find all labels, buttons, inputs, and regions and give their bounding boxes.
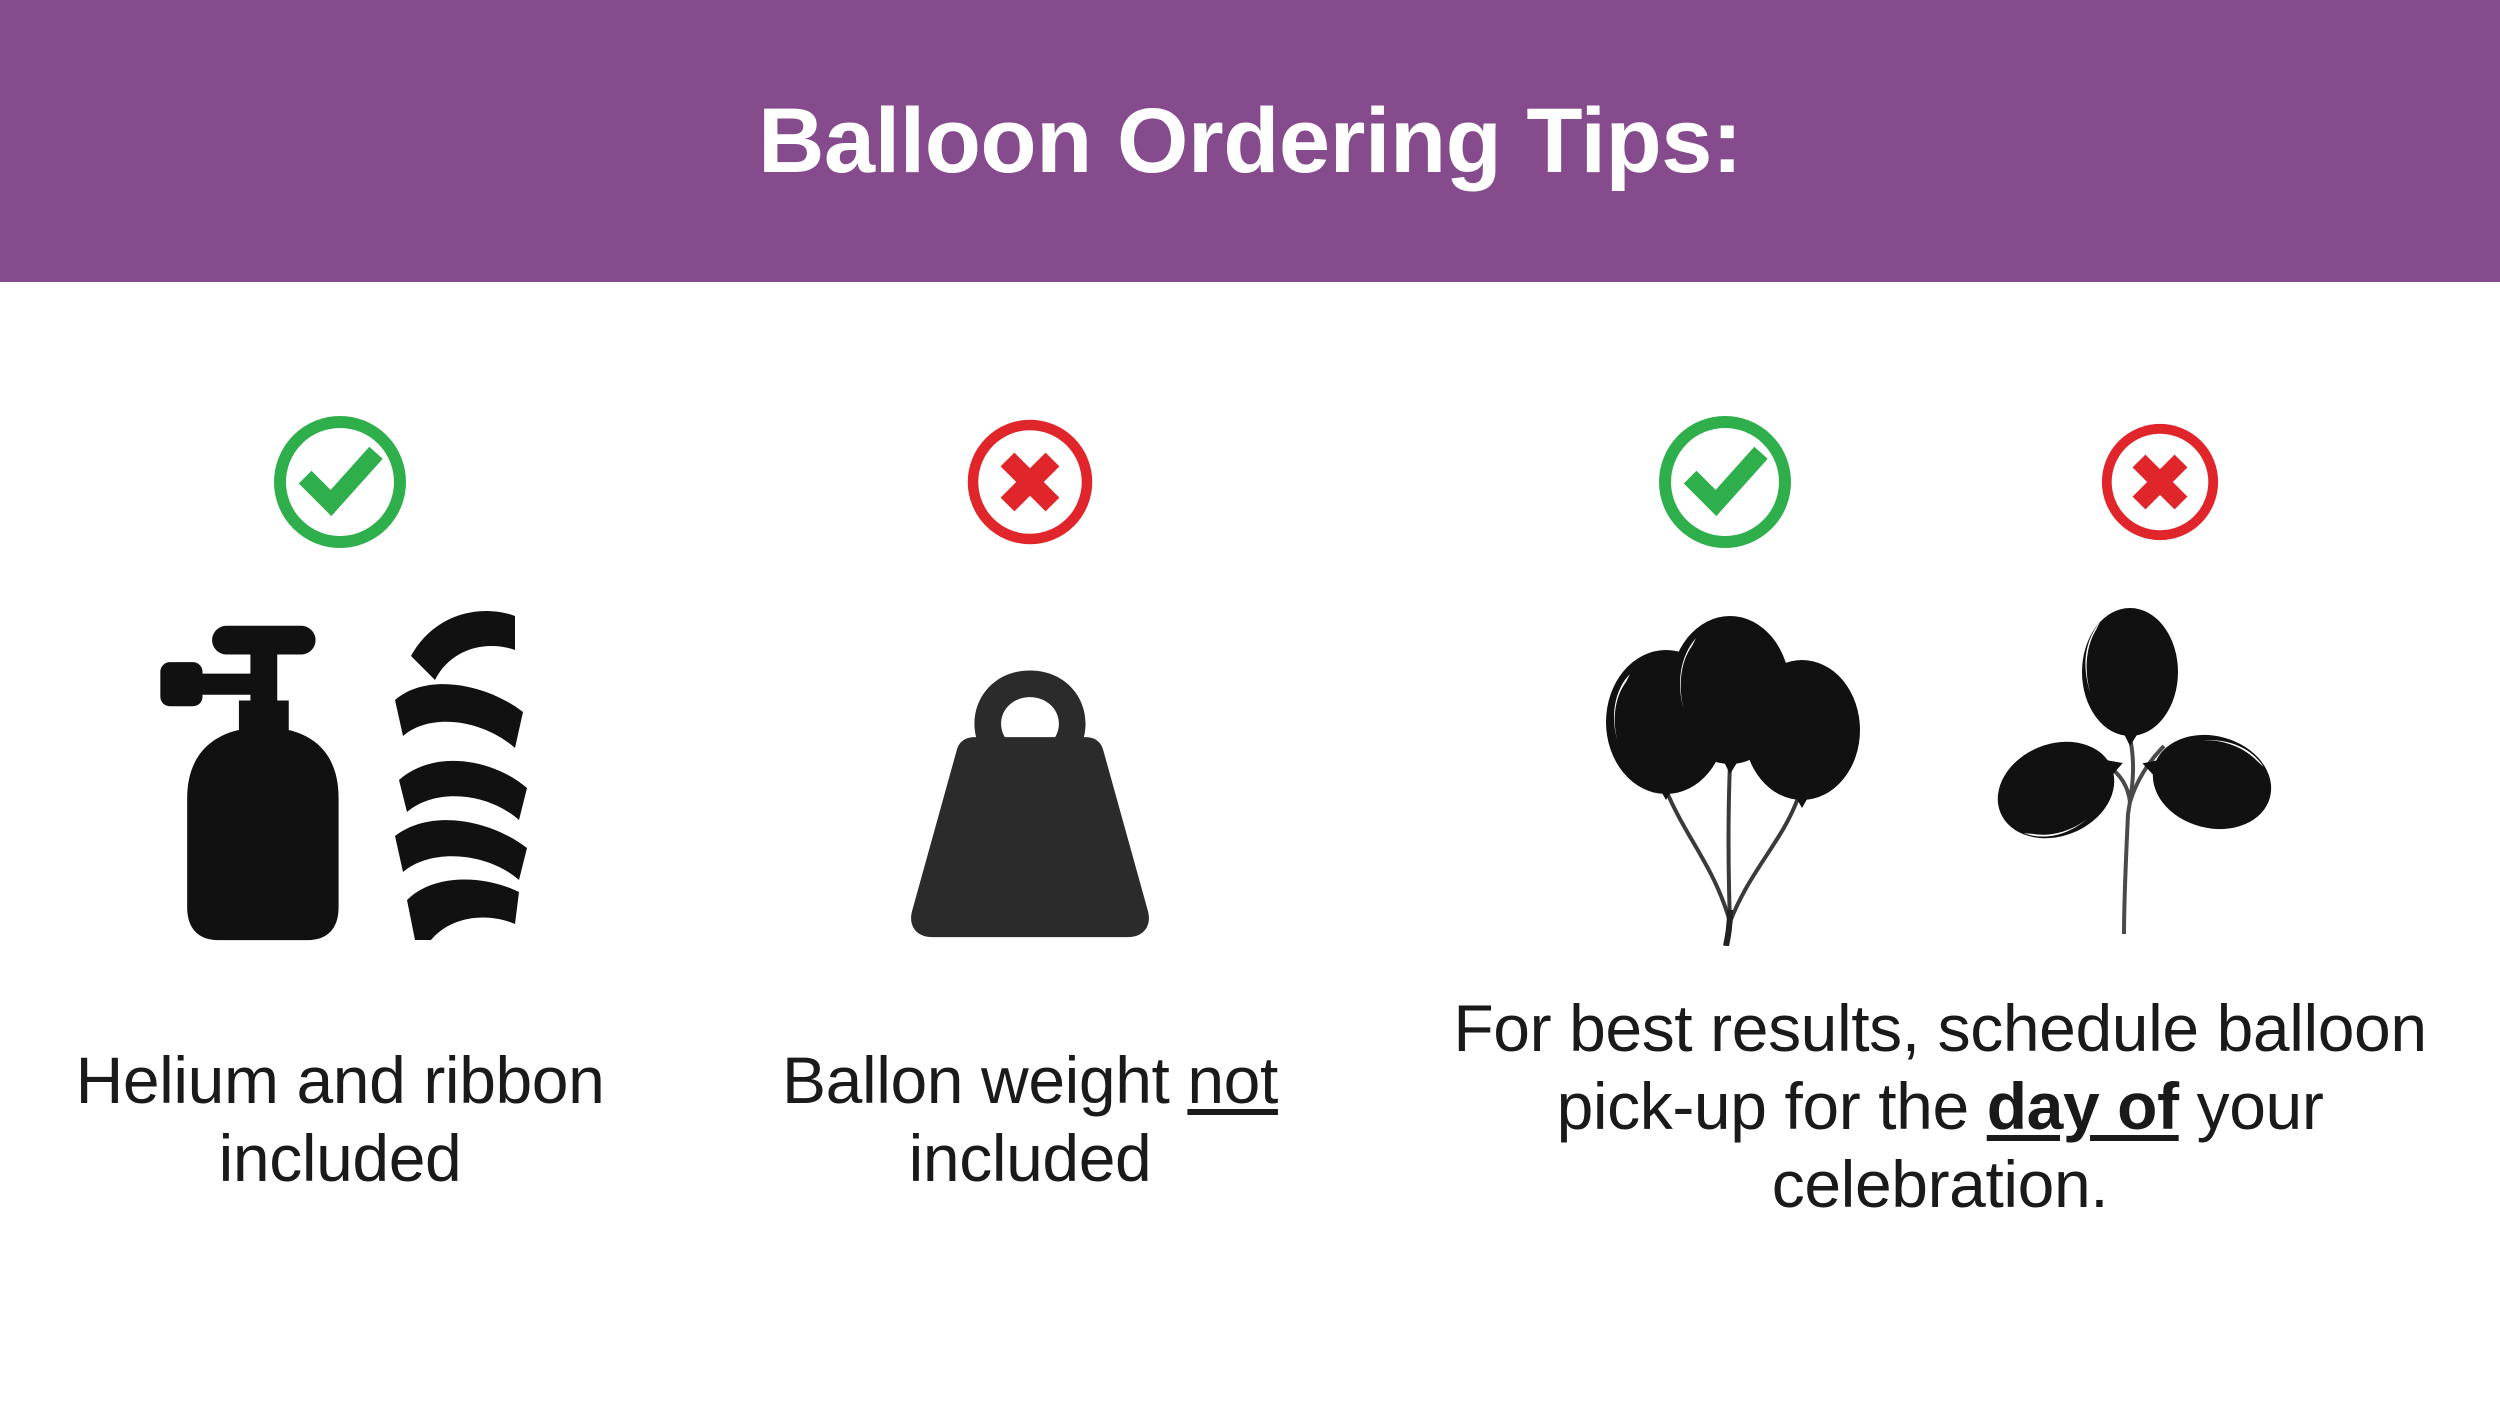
art-row-balloon-weight — [885, 586, 1175, 946]
header-band: Balloon Ordering Tips: — [0, 0, 2500, 282]
caption-emphasis-not: not — [1187, 1043, 1278, 1117]
badge-row-pickup-timing — [1650, 392, 2230, 572]
inflated-balloons-icon — [1590, 606, 1890, 946]
caption-text: Helium and ribbon included — [76, 1043, 605, 1195]
page-title: Balloon Ordering Tips: — [738, 95, 1762, 187]
caption-helium-ribbon: Helium and ribbon included — [20, 1042, 660, 1198]
caption-emphasis-day-of: day of — [1987, 1069, 2179, 1143]
caption-pickup-timing: For best results, schedule balloon pick-… — [1400, 990, 2480, 1224]
deflated-balloons-icon — [1980, 606, 2290, 946]
balloon-weight-icon — [885, 666, 1175, 946]
tip-column-pickup-timing: For best results, schedule balloon pick-… — [1380, 282, 2500, 1406]
check-circle-icon — [1650, 407, 1800, 557]
tip-column-balloon-weight: Ballon weight not included — [680, 282, 1380, 1406]
art-row-pickup-timing — [1590, 586, 2290, 946]
x-circle-icon — [2090, 412, 2230, 552]
caption-text-a: Ballon weight — [782, 1043, 1187, 1117]
curled-ribbon-icon — [375, 596, 535, 946]
badge-row-balloon-weight — [955, 392, 1105, 572]
tip-column-helium-ribbon: Helium and ribbon included — [0, 282, 680, 1406]
caption-balloon-weight: Ballon weight not included — [690, 1042, 1370, 1198]
check-circle-icon — [265, 407, 415, 557]
art-row-helium-ribbon — [145, 586, 535, 946]
balloon-ordering-tips-poster: Balloon Ordering Tips: — [0, 0, 2500, 1406]
caption-text-b: included — [909, 1121, 1152, 1195]
helium-tank-icon — [145, 616, 375, 946]
x-circle-icon — [955, 407, 1105, 557]
badge-row-helium-ribbon — [265, 392, 415, 572]
tips-row: Helium and ribbon included — [0, 282, 2500, 1406]
